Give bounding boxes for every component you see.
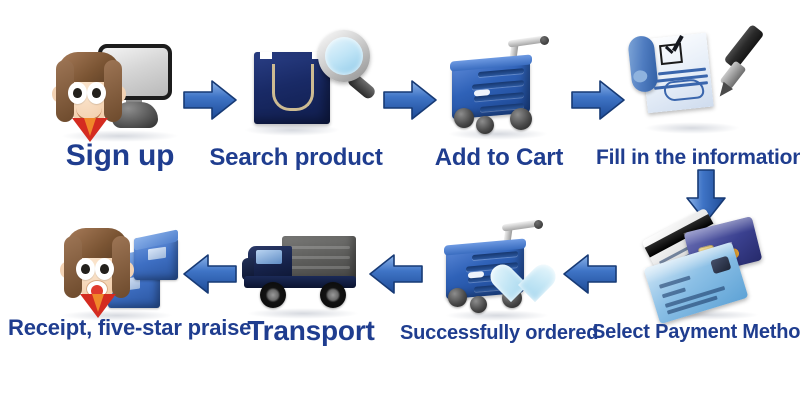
shopping-cart-icon <box>442 36 554 140</box>
step-successfully-ordered[interactable] <box>438 222 556 322</box>
user-package-icon <box>52 228 182 320</box>
credit-cards-icon <box>644 218 770 320</box>
delivery-truck-icon <box>242 232 364 320</box>
step-label-search-product: Search product <box>208 146 384 170</box>
step-label-successfully-ordered: Successfully ordered <box>400 323 596 343</box>
step-label-add-to-cart: Add to Cart <box>424 146 574 170</box>
form-pen-icon <box>634 30 750 140</box>
magnifier-icon <box>306 36 366 100</box>
arrow-left-2 <box>368 252 424 296</box>
shopping-bag-magnifier-icon <box>250 36 360 136</box>
step-fill-information[interactable] <box>634 30 750 142</box>
cart-heart-icon <box>438 222 556 320</box>
pen-icon <box>690 28 750 108</box>
step-transport[interactable] <box>242 232 364 322</box>
heart-icon <box>500 266 546 308</box>
arrow-left-1 <box>562 252 618 296</box>
step-search-product[interactable] <box>250 36 360 140</box>
step-select-payment-method[interactable] <box>644 218 770 322</box>
step-label-receipt-praise: Receipt, five-star praise <box>8 317 244 339</box>
avatar <box>60 228 134 322</box>
step-label-select-payment-method: Select Payment Method <box>592 322 798 342</box>
step-label-sign-up: Sign up <box>40 141 200 171</box>
step-label-transport: Transport <box>246 317 376 345</box>
arrow-left-3 <box>182 252 238 296</box>
step-label-fill-information: Fill in the information <box>596 147 800 168</box>
avatar <box>52 52 126 146</box>
arrow-right-1 <box>182 78 238 122</box>
step-add-to-cart[interactable] <box>442 36 554 142</box>
arrow-right-2 <box>382 78 438 122</box>
step-sign-up[interactable] <box>50 38 190 148</box>
user-computer-icon <box>50 38 190 138</box>
step-receipt-praise[interactable] <box>52 228 182 322</box>
arrow-right-3 <box>570 78 626 122</box>
process-flow-diagram: Sign up <box>0 0 800 400</box>
